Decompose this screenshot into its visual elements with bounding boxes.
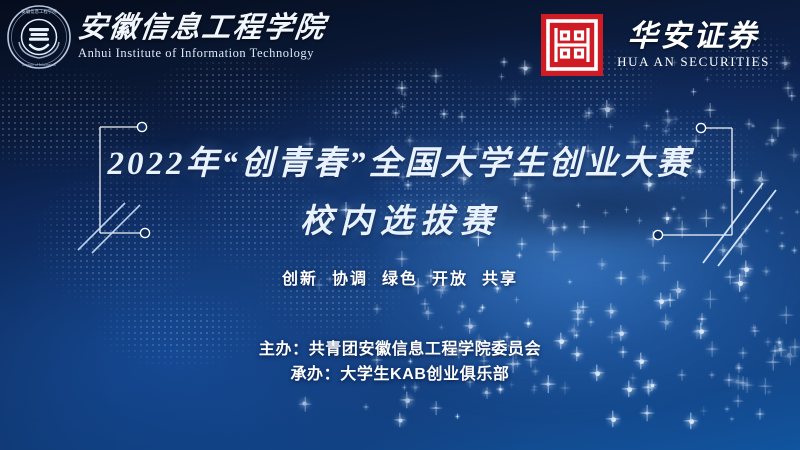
university-seal-icon: 安徽信息工程学院 Institute of Information	[6, 4, 72, 70]
school-name-group: 安徽信息工程学院 Anhui Institute of Information …	[78, 13, 326, 60]
sponsor-name-cn: 华安证券	[628, 20, 760, 53]
poster-canvas: 安徽信息工程学院 Institute of Information 安徽信息工程…	[0, 0, 800, 450]
organizer-cohost: 承办：大学生KAB创业俱乐部	[0, 362, 800, 387]
title-line-2: 校内选拔赛	[0, 200, 800, 244]
title-block: 2022年“创青春”全国大学生创业大赛 校内选拔赛	[0, 142, 800, 244]
slogan-word-0: 创新	[282, 271, 318, 288]
sponsor-name-group: 华安证券 HUA AN SECURITIES	[617, 20, 770, 70]
sponsor-logo-group: 华安证券 HUA AN SECURITIES	[541, 14, 770, 76]
svg-text:Institute of Information: Institute of Information	[22, 63, 56, 67]
slogan-word-3: 开放	[432, 271, 468, 288]
title-line-1: 2022年“创青春”全国大学生创业大赛	[0, 142, 800, 186]
school-name-en: Anhui Institute of Information Technolog…	[78, 46, 326, 61]
organizer-host: 主办：共青团安徽信息工程学院委员会	[0, 337, 800, 362]
huaan-seal-mark-icon	[541, 14, 603, 76]
slogan-row: 创新协调绿色开放共享	[0, 265, 800, 289]
sponsor-name-en: HUA AN SECURITIES	[617, 54, 770, 70]
slogan-word-4: 共享	[482, 271, 518, 288]
svg-text:安徽信息工程学院: 安徽信息工程学院	[21, 8, 57, 15]
school-logo-group: 安徽信息工程学院 Institute of Information 安徽信息工程…	[6, 4, 326, 70]
school-name-cn: 安徽信息工程学院	[76, 13, 328, 43]
slogan-word-1: 协调	[332, 271, 368, 288]
slogan-word-2: 绿色	[382, 271, 418, 288]
organizer-block: 主办：共青团安徽信息工程学院委员会 承办：大学生KAB创业俱乐部	[0, 337, 800, 387]
